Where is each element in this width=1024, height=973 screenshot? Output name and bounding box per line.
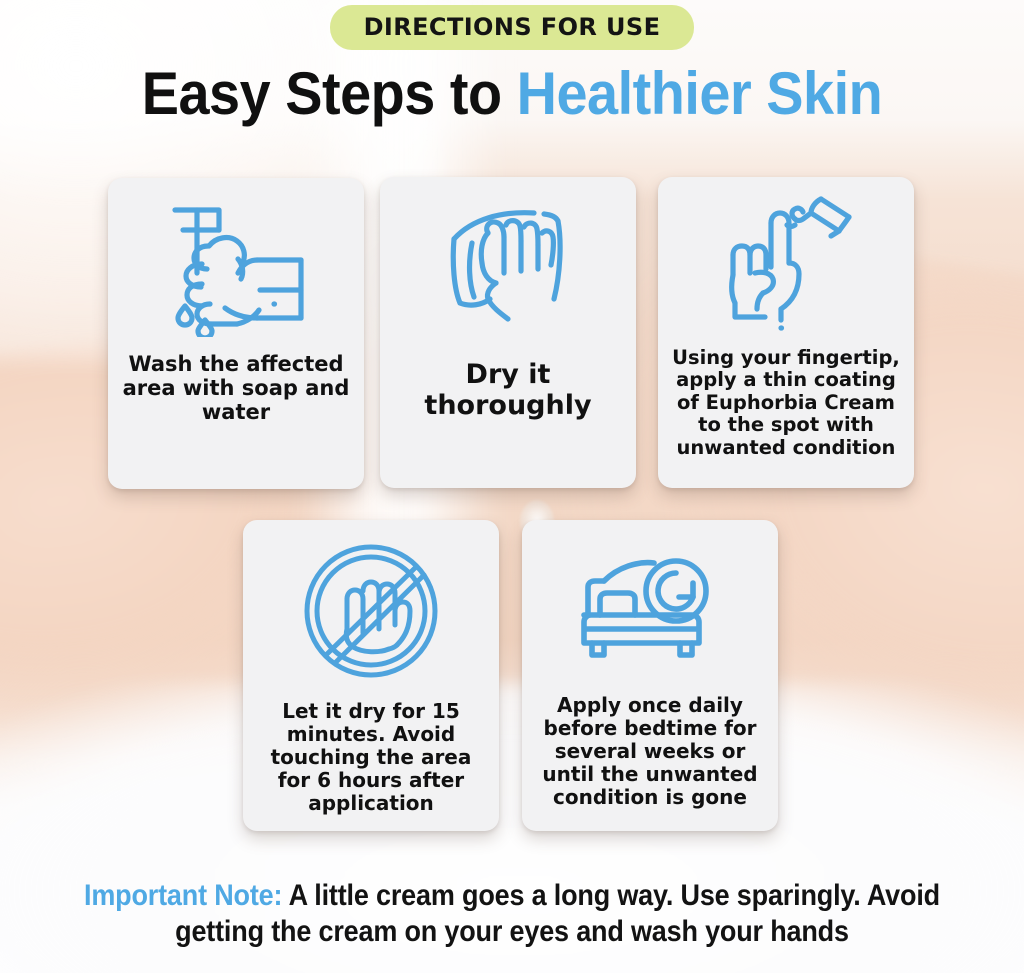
step-card-4[interactable]: Let it dry for 15 minutes. Avoid touchin…	[243, 520, 499, 831]
hand-drying-towel-icon	[438, 203, 578, 333]
page-title: Easy Steps to Healthier Skin	[36, 62, 988, 125]
no-touching-hand-icon	[301, 541, 441, 681]
step-card-1[interactable]: Wash the affected area with soap and wat…	[108, 178, 364, 489]
step-4-icon-wrap	[243, 520, 499, 680]
wash-hands-under-tap-icon	[161, 202, 311, 337]
badge-row: DIRECTIONS FOR USE	[0, 5, 1024, 50]
step-card-3[interactable]: Using your fingertip, apply a thin coati…	[658, 177, 914, 488]
step-1-icon-wrap	[108, 178, 364, 338]
step-3-text: Using your fingertip, apply a thin coati…	[658, 347, 914, 459]
step-5-text: Apply once daily before bedtime for seve…	[522, 694, 778, 809]
step-card-2[interactable]: Dry it thoroughly	[380, 177, 636, 488]
page-title-part1: Easy Steps to	[142, 60, 517, 127]
important-note-text: A little cream goes a long way. Use spar…	[175, 879, 940, 949]
step-card-5[interactable]: Apply once daily before bedtime for seve…	[522, 520, 778, 831]
step-1-text: Wash the affected area with soap and wat…	[108, 352, 364, 424]
step-3-icon-wrap	[658, 177, 914, 337]
page-title-part2: Healthier Skin	[517, 60, 883, 127]
step-2-icon-wrap	[380, 177, 636, 337]
fingertip-cream-tube-icon	[711, 189, 861, 339]
important-note-label: Important Note:	[84, 879, 282, 912]
step-2-text: Dry it thoroughly	[380, 359, 636, 421]
infographic-root: DIRECTIONS FOR USE Easy Steps to Healthi…	[0, 0, 1024, 973]
step-5-icon-wrap	[522, 520, 778, 680]
bed-repeat-daily-icon	[580, 551, 720, 671]
step-4-text: Let it dry for 15 minutes. Avoid touchin…	[243, 700, 499, 815]
directions-badge: DIRECTIONS FOR USE	[330, 5, 695, 50]
important-note: Important Note: A little cream goes a lo…	[51, 878, 973, 951]
